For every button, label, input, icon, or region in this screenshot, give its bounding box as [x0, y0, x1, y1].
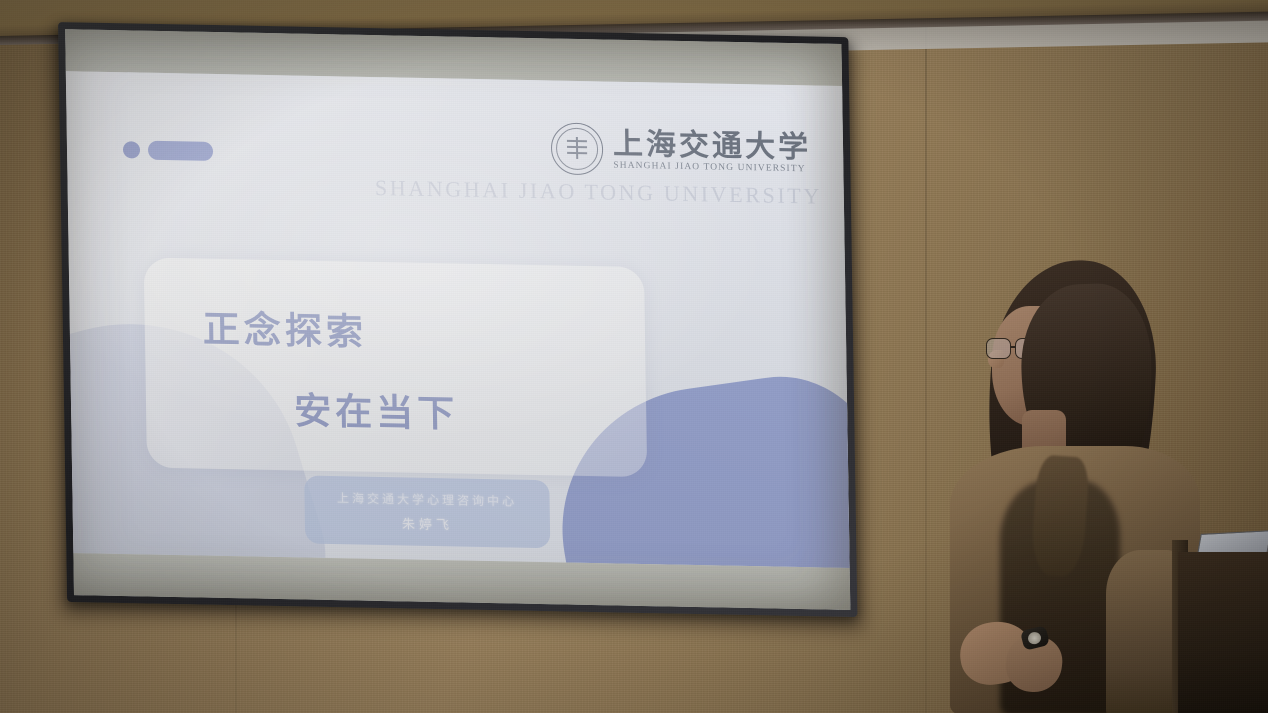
subtitle-organization: 上海交通大学心理咨询中心	[337, 489, 517, 509]
screen-surface: 上海交通大学 SHANGHAI JIAO TONG UNIVERSITY SHA…	[65, 29, 850, 610]
slide-title-card: 正念探索 安在当下	[144, 258, 648, 478]
slide-title-line-1: 正念探索	[202, 299, 367, 356]
slide-subtitle-card: 上海交通大学心理咨询中心 朱婷飞	[304, 476, 550, 549]
decor-bar-icon	[148, 141, 213, 161]
sjtu-logo-chinese: 上海交通大学	[613, 128, 812, 163]
slide-canvas: 上海交通大学 SHANGHAI JIAO TONG UNIVERSITY SHA…	[66, 71, 850, 568]
glasses-lens-left	[986, 338, 1011, 359]
slide-title-line-2: 安在当下	[294, 380, 459, 437]
projection-screen: 上海交通大学 SHANGHAI JIAO TONG UNIVERSITY SHA…	[58, 22, 857, 617]
sjtu-seal-icon	[551, 122, 604, 175]
sjtu-logo-text: 上海交通大学 SHANGHAI JIAO TONG UNIVERSITY	[613, 128, 812, 174]
subtitle-presenter-name: 朱婷飞	[402, 513, 453, 533]
decor-pill-group	[123, 140, 213, 161]
photo-scene: 上海交通大学 SHANGHAI JIAO TONG UNIVERSITY SHA…	[0, 0, 1268, 713]
screen-bezel: 上海交通大学 SHANGHAI JIAO TONG UNIVERSITY SHA…	[58, 22, 857, 617]
sjtu-watermark: SHANGHAI JIAO TONG UNIVERSITY	[375, 175, 822, 210]
sjtu-logo: 上海交通大学 SHANGHAI JIAO TONG UNIVERSITY	[551, 122, 812, 179]
wall-panel-seam	[925, 0, 927, 713]
decor-dot-icon	[123, 141, 140, 158]
lectern-body	[1178, 552, 1268, 713]
